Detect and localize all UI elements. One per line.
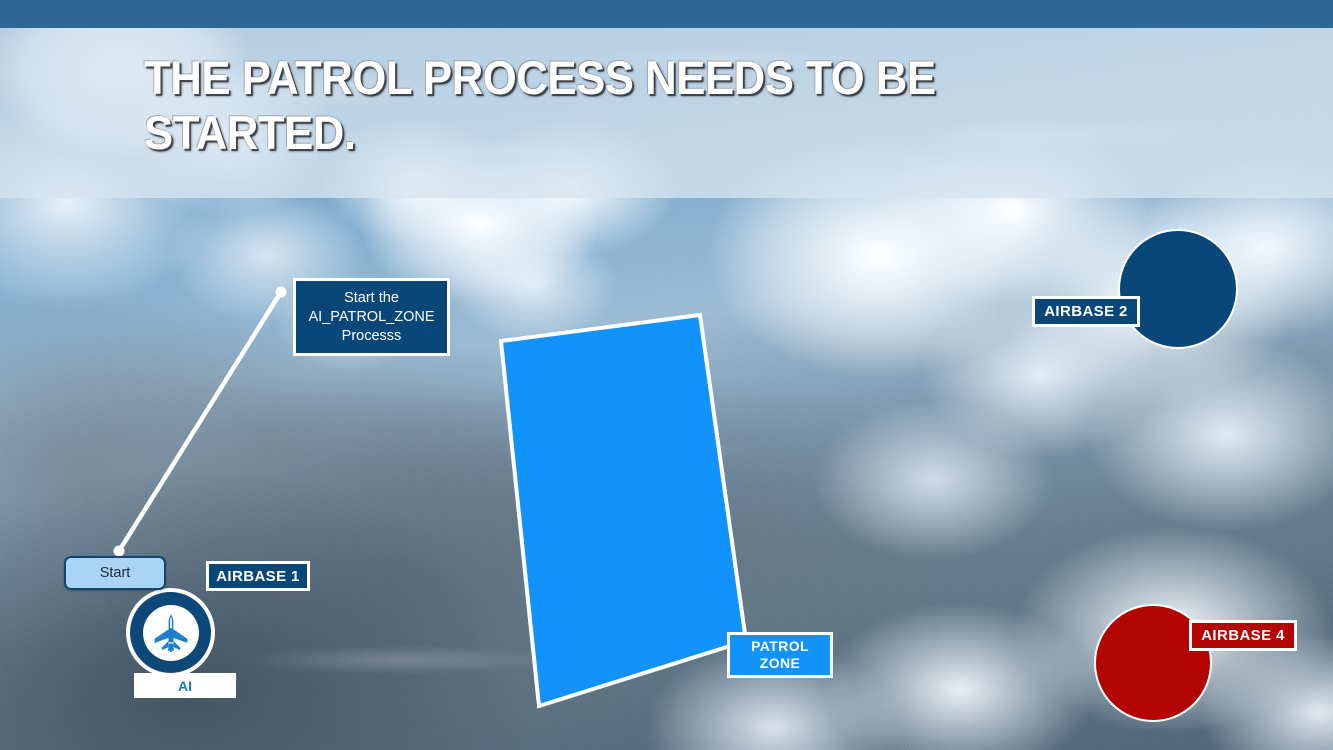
fighter-jet-icon	[150, 612, 192, 654]
airbase-1-node[interactable]	[126, 588, 215, 677]
callout-box-start-process[interactable]: Start the AI_PATROL_ZONE Processs	[293, 278, 450, 356]
airbase-1-label[interactable]: AIRBASE 1	[206, 561, 310, 591]
patrol-zone-label-line-1: PATROL	[751, 638, 809, 655]
start-button[interactable]: Start	[64, 556, 166, 590]
airbase-4-label[interactable]: AIRBASE 4	[1189, 620, 1297, 651]
airbase-2-label[interactable]: AIRBASE 2	[1032, 296, 1140, 327]
patrol-zone-label-line-2: ZONE	[760, 655, 801, 672]
slide-canvas: THE PATROL PROCESS NEEDS TO BE STARTED. …	[0, 0, 1333, 750]
airbase-2-node[interactable]	[1118, 229, 1238, 349]
callout-line-1: Start the	[344, 289, 399, 308]
airbase-1-icon-disc	[143, 605, 199, 661]
callout-line-3: Processs	[342, 327, 402, 346]
airbase-1-name-plate[interactable]: AI	[134, 673, 236, 698]
patrol-zone-label[interactable]: PATROL ZONE	[727, 632, 833, 678]
callout-line-2: AI_PATROL_ZONE	[309, 308, 435, 327]
